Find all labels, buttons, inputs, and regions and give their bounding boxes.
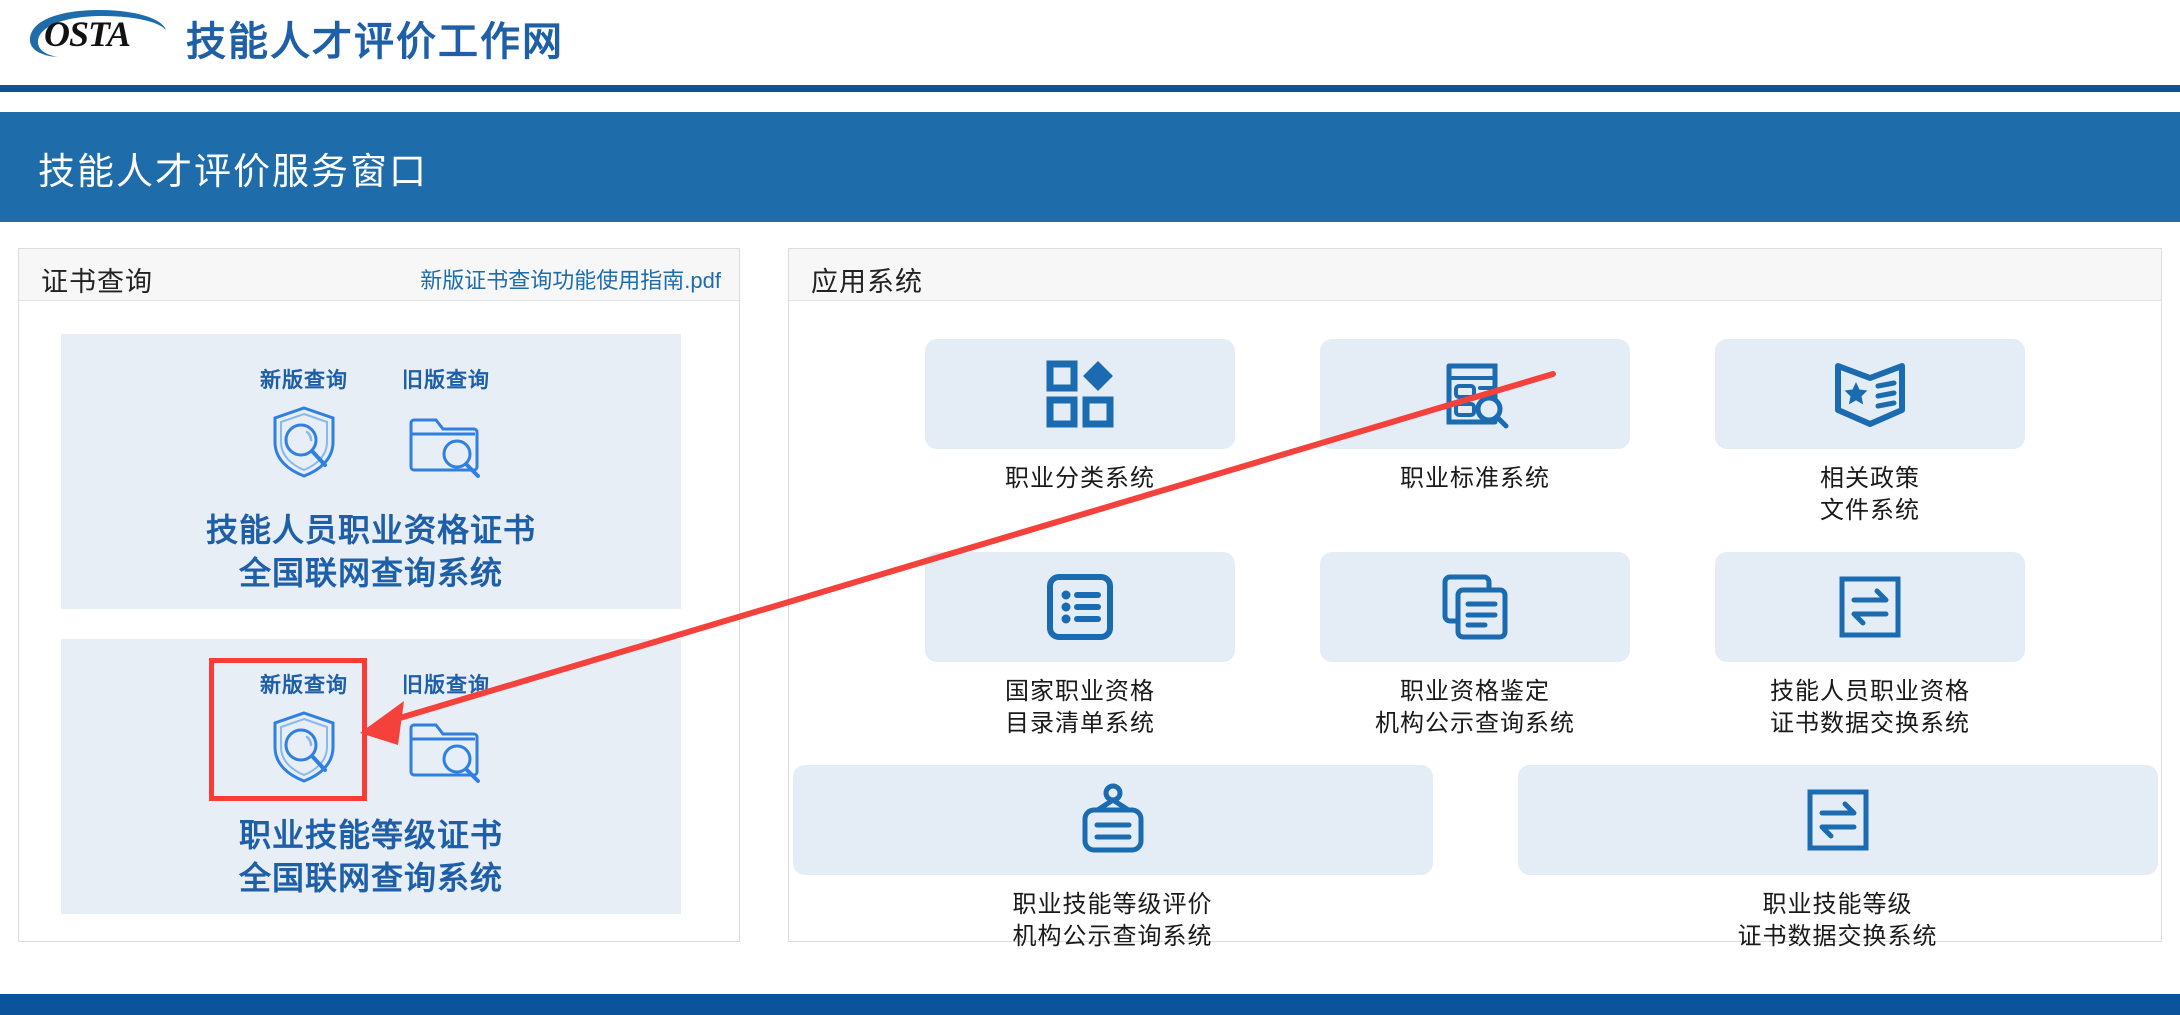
certificate-query-header: 证书查询 新版证书查询功能使用指南.pdf	[19, 249, 739, 301]
tile-label-line1: 职业标准系统	[1320, 463, 1630, 495]
category-blocks-icon	[925, 339, 1235, 449]
cert-card-occupational-qualification[interactable]: 新版查询 旧版查询	[61, 334, 681, 609]
apps-panel-title: 应用系统	[811, 260, 923, 299]
book-star-icon	[1715, 339, 2025, 449]
app-tile-occupation-classification[interactable]: 职业分类系统	[925, 339, 1235, 528]
app-tile-label: 职业标准系统	[1320, 463, 1630, 495]
stacked-documents-icon	[1320, 552, 1630, 662]
application-systems-header: 应用系统	[789, 249, 2161, 301]
app-tile-label: 国家职业资格 目录清单系统	[925, 676, 1235, 741]
app-tile-label: 相关政策 文件系统	[1715, 463, 2025, 528]
tile-label-line2: 证书数据交换系统	[1715, 708, 2025, 740]
banner-title: 技能人才评价服务窗口	[38, 141, 428, 195]
app-tile-label: 技能人员职业资格 证书数据交换系统	[1715, 676, 2025, 741]
tile-label-line1: 职业技能等级评价	[793, 889, 1433, 921]
apps-grid: 职业分类系统	[789, 301, 2161, 977]
data-exchange-icon	[1715, 552, 2025, 662]
app-tile-skill-level-data-exchange[interactable]: 职业技能等级 证书数据交换系统	[1518, 765, 2158, 954]
document-search-icon	[1320, 339, 1630, 449]
site-header: OSTA 技能人才评价工作网	[0, 0, 2180, 85]
cert-card-title: 技能人员职业资格证书 全国联网查询系统	[61, 509, 681, 594]
folder-search-icon	[371, 709, 521, 785]
new-version-query-label: 新版查询	[229, 364, 379, 394]
tile-label-line1: 相关政策	[1715, 463, 2025, 495]
app-tile-label: 职业资格鉴定 机构公示查询系统	[1320, 676, 1630, 741]
bullet-list-icon	[925, 552, 1235, 662]
app-tile-qualification-catalog[interactable]: 国家职业资格 目录清单系统	[925, 552, 1235, 741]
app-tile-appraisal-institution[interactable]: 职业资格鉴定 机构公示查询系统	[1320, 552, 1630, 741]
application-systems-panel: 应用系统 职业分类系统	[788, 248, 2162, 942]
app-tile-label: 职业分类系统	[925, 463, 1235, 495]
apps-row: 国家职业资格 目录清单系统 职业资格鉴定 机构公示查询系统	[789, 552, 2161, 741]
shield-search-icon	[229, 404, 379, 480]
osta-swoosh-logo[interactable]: OSTA	[22, 6, 172, 61]
apps-row: 职业分类系统	[789, 339, 2161, 528]
new-version-query-label: 新版查询	[229, 669, 379, 699]
cert-card-title-line1: 职业技能等级证书	[61, 814, 681, 857]
tile-label-line1: 职业资格鉴定	[1320, 676, 1630, 708]
footer-bar	[0, 994, 2180, 1015]
app-tile-occupation-standard[interactable]: 职业标准系统	[1320, 339, 1630, 528]
data-exchange-icon	[1518, 765, 2158, 875]
app-tile-skill-evaluation-institution[interactable]: 职业技能等级评价 机构公示查询系统	[793, 765, 1433, 954]
tile-label-line1: 职业分类系统	[925, 463, 1235, 495]
tile-label-line2: 文件系统	[1715, 495, 2025, 527]
tile-label-line2: 机构公示查询系统	[1320, 708, 1630, 740]
old-version-query-label: 旧版查询	[371, 669, 521, 699]
tile-label-line2: 目录清单系统	[925, 708, 1235, 740]
folder-search-icon	[371, 404, 521, 480]
query-option-group: 新版查询 旧版查询	[61, 334, 681, 494]
app-tile-label: 职业技能等级 证书数据交换系统	[1518, 889, 2158, 954]
app-tile-qualification-data-exchange[interactable]: 技能人员职业资格 证书数据交换系统	[1715, 552, 2025, 741]
app-tile-label: 职业技能等级评价 机构公示查询系统	[793, 889, 1433, 954]
guide-pdf-link[interactable]: 新版证书查询功能使用指南.pdf	[420, 263, 721, 295]
new-version-query-option[interactable]: 新版查询	[229, 364, 379, 480]
tile-label-line1: 职业技能等级	[1518, 889, 2158, 921]
old-version-query-option[interactable]: 旧版查询	[371, 364, 521, 480]
shield-search-icon	[229, 709, 379, 785]
apps-row: 职业技能等级评价 机构公示查询系统 职业技能等级 证书数据交换系统	[789, 765, 2161, 954]
svg-text:OSTA: OSTA	[44, 14, 130, 54]
query-option-group: 新版查询 旧版查询	[61, 639, 681, 799]
page-title: 证书查询	[41, 260, 153, 299]
cert-card-title-line2: 全国联网查询系统	[61, 552, 681, 595]
tile-label-line1: 国家职业资格	[925, 676, 1235, 708]
brand-title: 技能人才评价工作网	[186, 9, 564, 67]
app-tile-policy-documents[interactable]: 相关政策 文件系统	[1715, 339, 2025, 528]
tile-label-line2: 机构公示查询系统	[793, 921, 1433, 953]
cert-card-skill-level[interactable]: 新版查询 旧版查询	[61, 639, 681, 914]
old-version-query-option[interactable]: 旧版查询	[371, 669, 521, 785]
tile-label-line1: 技能人员职业资格	[1715, 676, 2025, 708]
header-divider	[0, 85, 2180, 92]
cert-card-title-line2: 全国联网查询系统	[61, 857, 681, 900]
hanging-sign-icon	[793, 765, 1433, 875]
certificate-query-panel: 证书查询 新版证书查询功能使用指南.pdf 新版查询 旧版查询	[18, 248, 740, 942]
tile-label-line2: 证书数据交换系统	[1518, 921, 2158, 953]
service-window-banner: 技能人才评价服务窗口	[0, 112, 2180, 222]
old-version-query-label: 旧版查询	[371, 364, 521, 394]
cert-card-title-line1: 技能人员职业资格证书	[61, 509, 681, 552]
new-version-query-option[interactable]: 新版查询	[229, 669, 379, 785]
cert-card-title: 职业技能等级证书 全国联网查询系统	[61, 814, 681, 899]
